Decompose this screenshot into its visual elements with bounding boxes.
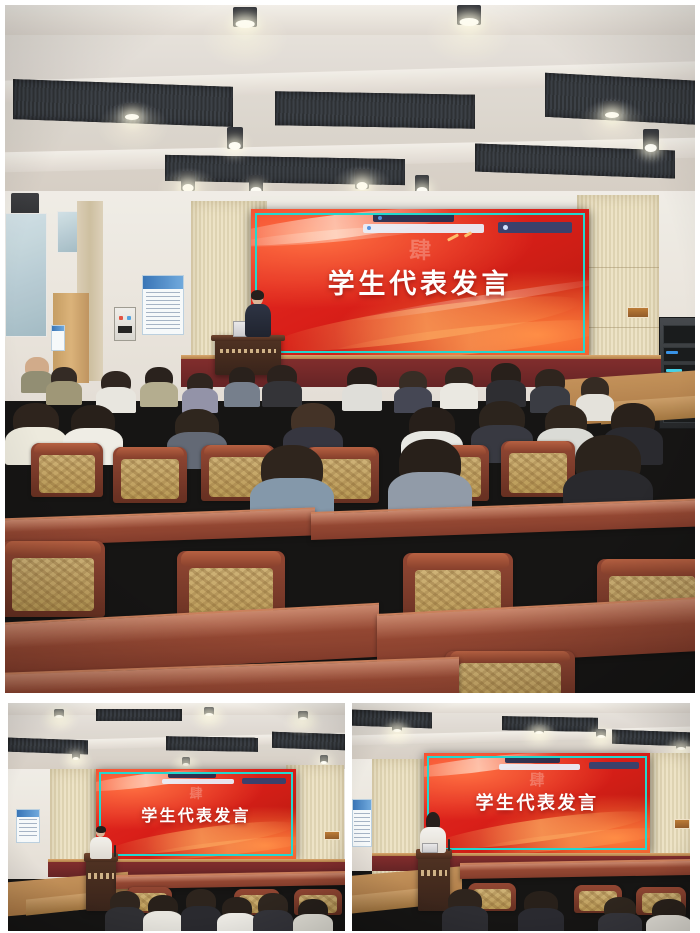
screen-accent-border — [427, 756, 647, 850]
control-panel-display — [118, 326, 132, 333]
attendee-body — [253, 910, 294, 931]
desk-gloss — [5, 509, 315, 532]
ceiling-downlight — [233, 7, 257, 27]
attendee-body — [442, 906, 488, 931]
chair-cushion — [459, 663, 560, 693]
ceiling-downlight — [204, 707, 214, 715]
attendee-body — [140, 382, 178, 407]
ceiling-downlight — [320, 755, 328, 763]
main-photo[interactable]: 肆 学生代表发言 — [5, 5, 695, 693]
attendee-body — [518, 908, 564, 931]
attendee — [187, 373, 213, 413]
ceiling-beam — [5, 5, 695, 35]
ceiling-downlight — [457, 5, 481, 25]
auditorium-chair — [113, 447, 187, 503]
indicator-led — [666, 351, 678, 354]
speaker-hair — [96, 826, 107, 833]
ceiling-grid-panel — [275, 91, 475, 128]
attendee — [145, 367, 173, 407]
auditorium-chair — [5, 541, 105, 617]
ceiling-grid-panel — [165, 155, 405, 185]
attendee — [267, 365, 297, 407]
podium — [418, 849, 450, 911]
lecture-hall-scene-wide-left: 肆 学生代表发言 — [8, 703, 345, 931]
poster-text-lines — [354, 813, 369, 842]
desk-gloss — [116, 873, 345, 883]
rack-unit — [663, 325, 695, 345]
thumb-right-photo[interactable]: 肆 学生代表发言 — [352, 703, 690, 931]
auditorium-desk — [460, 859, 690, 879]
laptop — [422, 843, 438, 853]
attendee — [148, 895, 178, 931]
poster-header — [17, 810, 39, 817]
indicator-led — [127, 316, 131, 320]
attendee — [524, 891, 558, 931]
desk-gloss — [460, 861, 690, 871]
ceiling-grid-panel — [545, 73, 695, 125]
chair-crest — [181, 551, 280, 570]
led-screen-surface: 肆 学生代表发言 — [251, 209, 589, 357]
attendee-body — [105, 907, 146, 931]
poster-text-lines — [19, 819, 38, 840]
ceiling-downlight — [182, 757, 190, 765]
screen-accent-border — [255, 213, 585, 353]
slat-seam — [577, 267, 659, 268]
chair-crest — [407, 553, 508, 572]
speaker-hair — [251, 290, 264, 300]
podium-nameplate — [88, 873, 113, 879]
speaker-body — [245, 304, 271, 337]
ceiling-downlight — [603, 101, 621, 117]
attendee — [229, 367, 255, 407]
ceiling-grid-panel — [96, 709, 182, 721]
speaker-body — [90, 837, 111, 859]
microphone — [114, 845, 116, 857]
ceiling-downlight — [643, 129, 659, 151]
indicator-led — [119, 316, 123, 320]
led-screen[interactable]: 肆 学生代表发言 — [251, 209, 589, 357]
lecture-hall-scene-wide-right: 肆 学生代表发言 — [352, 703, 690, 931]
attendee — [222, 897, 252, 931]
speaker-person — [243, 291, 273, 337]
attendee — [604, 897, 636, 931]
led-screen-surface: 肆 学生代表发言 — [96, 769, 296, 859]
ceiling-downlight — [227, 127, 243, 149]
attendee-body — [646, 915, 690, 931]
attendee-body — [342, 384, 383, 411]
window — [5, 213, 47, 337]
podium-nameplate — [421, 870, 448, 876]
led-screen[interactable]: 肆 学生代表发言 — [96, 769, 296, 859]
wall-sign — [674, 819, 690, 829]
auditorium-chair — [31, 443, 103, 497]
notice-poster — [16, 809, 40, 843]
chair-cushion — [509, 453, 567, 492]
attendee-body — [293, 914, 334, 931]
ceiling-grid-panel — [502, 716, 598, 732]
attendee — [445, 367, 473, 409]
thumb-left-photo[interactable]: 肆 学生代表发言 — [8, 703, 345, 931]
attendee-body — [143, 911, 184, 931]
attendee — [298, 899, 328, 931]
ceiling-downlight — [54, 709, 64, 717]
lecture-hall-scene: 肆 学生代表发言 — [5, 5, 695, 693]
attendee — [186, 889, 216, 931]
attendee — [448, 889, 482, 931]
attendee — [51, 367, 77, 405]
chair-cushion — [121, 459, 179, 498]
podium-nameplate — [220, 349, 275, 353]
wall-sign — [324, 831, 340, 840]
chair-cushion — [39, 455, 95, 493]
ceiling-downlight — [596, 729, 606, 737]
attendee-body — [181, 906, 222, 931]
ceiling-downlight — [392, 723, 402, 731]
chair-crest — [601, 559, 695, 578]
ceiling-downlight — [355, 169, 369, 189]
chair-cushion — [12, 558, 93, 611]
attendee — [652, 899, 686, 931]
attendee-body — [598, 913, 642, 931]
ceiling-downlight — [534, 725, 544, 733]
attendee — [347, 367, 377, 411]
screen-accent-border — [99, 772, 293, 856]
attendee — [110, 891, 140, 931]
poster-header — [52, 326, 64, 331]
auditorium-desk — [311, 498, 695, 540]
attendee — [258, 893, 288, 931]
notice-poster — [142, 275, 184, 335]
ceiling-grid-panel — [272, 732, 345, 751]
attendee-body — [440, 383, 478, 409]
desk-gloss — [311, 500, 695, 526]
led-screen[interactable]: 肆 学生代表发言 — [424, 753, 650, 853]
ceiling-downlight — [676, 741, 686, 749]
ceiling-grid-panel — [166, 736, 258, 752]
wall-sign — [627, 307, 649, 318]
attendee-body — [46, 381, 81, 405]
poster-header — [353, 800, 371, 810]
microphone — [448, 839, 450, 851]
ceiling-downlight — [72, 751, 80, 759]
attendee-body — [224, 382, 259, 407]
poster-text-lines — [146, 292, 180, 329]
poster-header — [143, 276, 183, 289]
wall-control-panel[interactable] — [114, 307, 136, 341]
speaker-person — [90, 827, 112, 859]
slat-seam — [577, 327, 659, 328]
chair-crest — [5, 541, 101, 559]
notice-poster — [352, 799, 372, 847]
ceiling-downlight — [298, 711, 308, 719]
attendee-body — [217, 913, 258, 931]
led-screen-surface: 肆 学生代表发言 — [424, 753, 650, 853]
ceiling-downlight — [181, 171, 195, 191]
ceiling-downlight — [123, 103, 141, 119]
rack-unit — [663, 347, 695, 362]
notice-poster — [51, 325, 65, 351]
photo-collage: 肆 学生代表发言 — [0, 0, 700, 933]
auditorium-chair — [445, 651, 575, 693]
